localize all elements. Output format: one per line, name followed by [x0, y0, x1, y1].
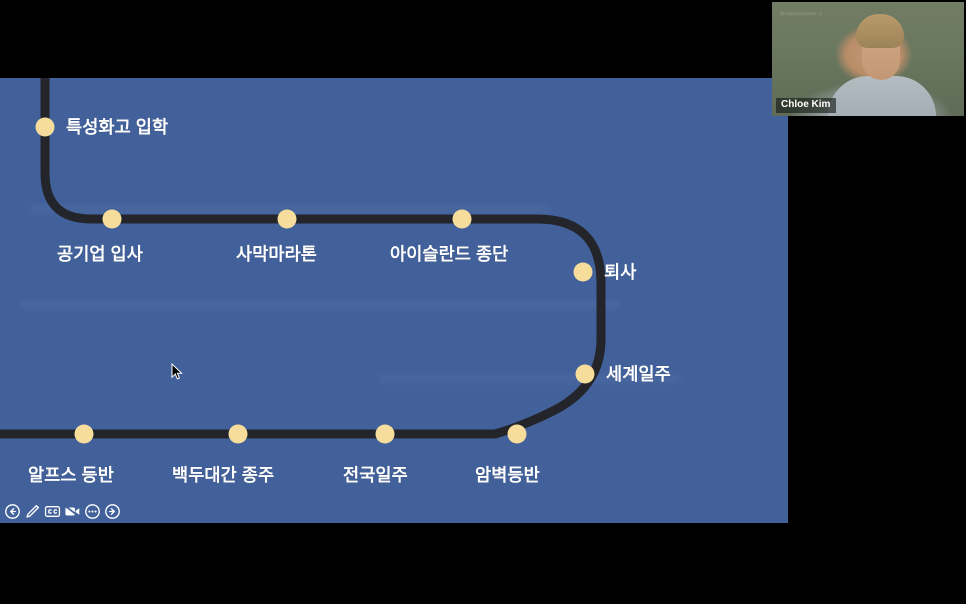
timeline-label-10: 알프스 등반	[28, 467, 114, 485]
timeline-label-8: 전국일주	[343, 467, 408, 485]
cc-icon[interactable]	[44, 503, 61, 520]
arrow-right-circle-icon[interactable]	[104, 503, 121, 520]
participant-name-badge: Chloe Kim	[776, 98, 836, 113]
presenter-toolbar[interactable]	[2, 501, 123, 521]
arrow-left-circle-icon[interactable]	[4, 503, 21, 520]
timeline-label-9: 백두대간 종주	[172, 467, 274, 485]
timeline-label-3: 사막마라톤	[236, 246, 317, 264]
timeline-label-1: 특성화고 입학	[66, 119, 168, 137]
timeline-label-4: 아이슬란드 종단	[390, 246, 508, 264]
webcam-hoodie	[828, 76, 936, 116]
camera-off-icon[interactable]	[64, 503, 81, 520]
timeline-node-3	[278, 210, 297, 229]
pen-icon[interactable]	[24, 503, 41, 520]
webcam-watermark: @claymadrekhe_0	[780, 11, 822, 16]
timeline-label-5: 퇴사	[604, 264, 636, 282]
timeline-node-1	[36, 118, 55, 137]
timeline-node-2	[103, 210, 122, 229]
timeline-label-7: 암벽등반	[475, 467, 540, 485]
timeline-label-6: 세계일주	[606, 366, 671, 384]
timeline-node-5	[574, 263, 593, 282]
webcam-self-view[interactable]: @claymadrekhe_0 Chloe Kim	[772, 2, 964, 116]
timeline-label-2: 공기업 입사	[57, 246, 143, 264]
screen-share-viewport: 특성화고 입학 공기업 입사 사막마라톤 아이슬란드 종단 퇴사 세계일주 암벽…	[0, 0, 966, 604]
timeline-node-4	[453, 210, 472, 229]
timeline-node-9	[229, 425, 248, 444]
shared-slide[interactable]: 특성화고 입학 공기업 입사 사막마라톤 아이슬란드 종단 퇴사 세계일주 암벽…	[0, 78, 788, 523]
timeline-node-7	[508, 425, 527, 444]
timeline-node-8	[376, 425, 395, 444]
timeline-node-6	[576, 365, 595, 384]
ellipsis-circle-icon[interactable]	[84, 503, 101, 520]
timeline-diagram	[0, 78, 788, 523]
webcam-beanie	[856, 14, 904, 48]
timeline-node-10	[75, 425, 94, 444]
